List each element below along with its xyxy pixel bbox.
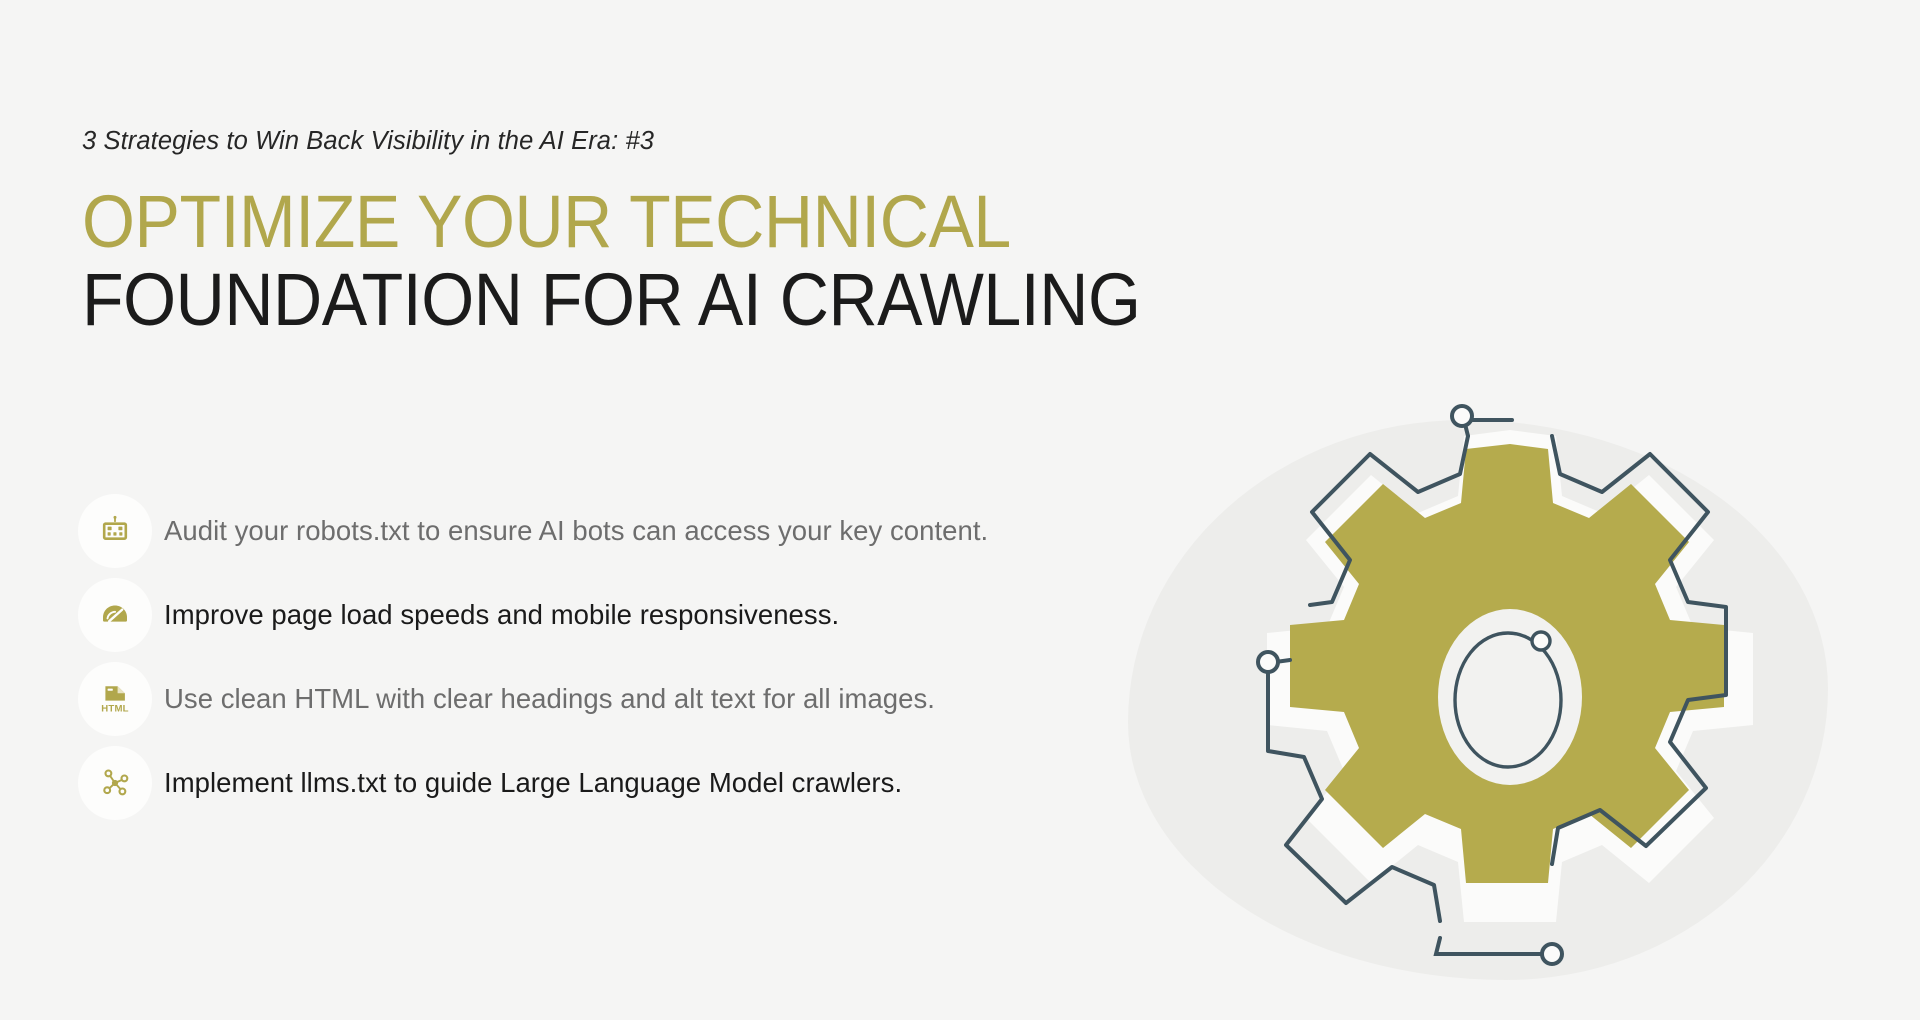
network-nodes-icon	[78, 746, 152, 820]
circuit-node-top	[1452, 406, 1472, 426]
html-file-icon: HTML	[78, 662, 152, 736]
slide-root: 3 Strategies to Win Back Visibility in t…	[0, 0, 1920, 1020]
page-title: OPTIMIZE YOUR TECHNICAL FOUNDATION FOR A…	[82, 183, 1172, 340]
list-item-label: Use clean HTML with clear headings and a…	[164, 678, 935, 719]
list-item-label: Improve page load speeds and mobile resp…	[164, 594, 839, 635]
list-item-label: Audit your robots.txt to ensure AI bots …	[164, 510, 988, 551]
eyebrow-text: 3 Strategies to Win Back Visibility in t…	[82, 126, 1172, 157]
text-content-block: 3 Strategies to Win Back Visibility in t…	[82, 126, 1172, 339]
robot-icon	[78, 494, 152, 568]
html-icon-label: HTML	[101, 704, 128, 715]
circuit-node-left	[1258, 652, 1278, 672]
headline-line-2: FOUNDATION FOR AI CRAWLING	[82, 261, 1085, 339]
gear-hub-node	[1532, 632, 1550, 650]
circuit-stub-bottom	[1436, 938, 1546, 954]
speedometer-icon	[78, 578, 152, 652]
headline-line-1: OPTIMIZE YOUR TECHNICAL	[82, 183, 1085, 261]
strategy-bullet-list: Audit your robots.txt to ensure AI bots …	[78, 494, 1198, 830]
list-item: Implement llms.txt to guide Large Langua…	[78, 746, 1198, 820]
circuit-node-bottom	[1542, 944, 1562, 964]
gear-circuit-illustration	[1200, 392, 1820, 972]
list-item: HTML Use clean HTML with clear headings …	[78, 662, 1198, 736]
list-item-label: Implement llms.txt to guide Large Langua…	[164, 762, 902, 803]
list-item: Audit your robots.txt to ensure AI bots …	[78, 494, 1198, 568]
list-item: Improve page load speeds and mobile resp…	[78, 578, 1198, 652]
